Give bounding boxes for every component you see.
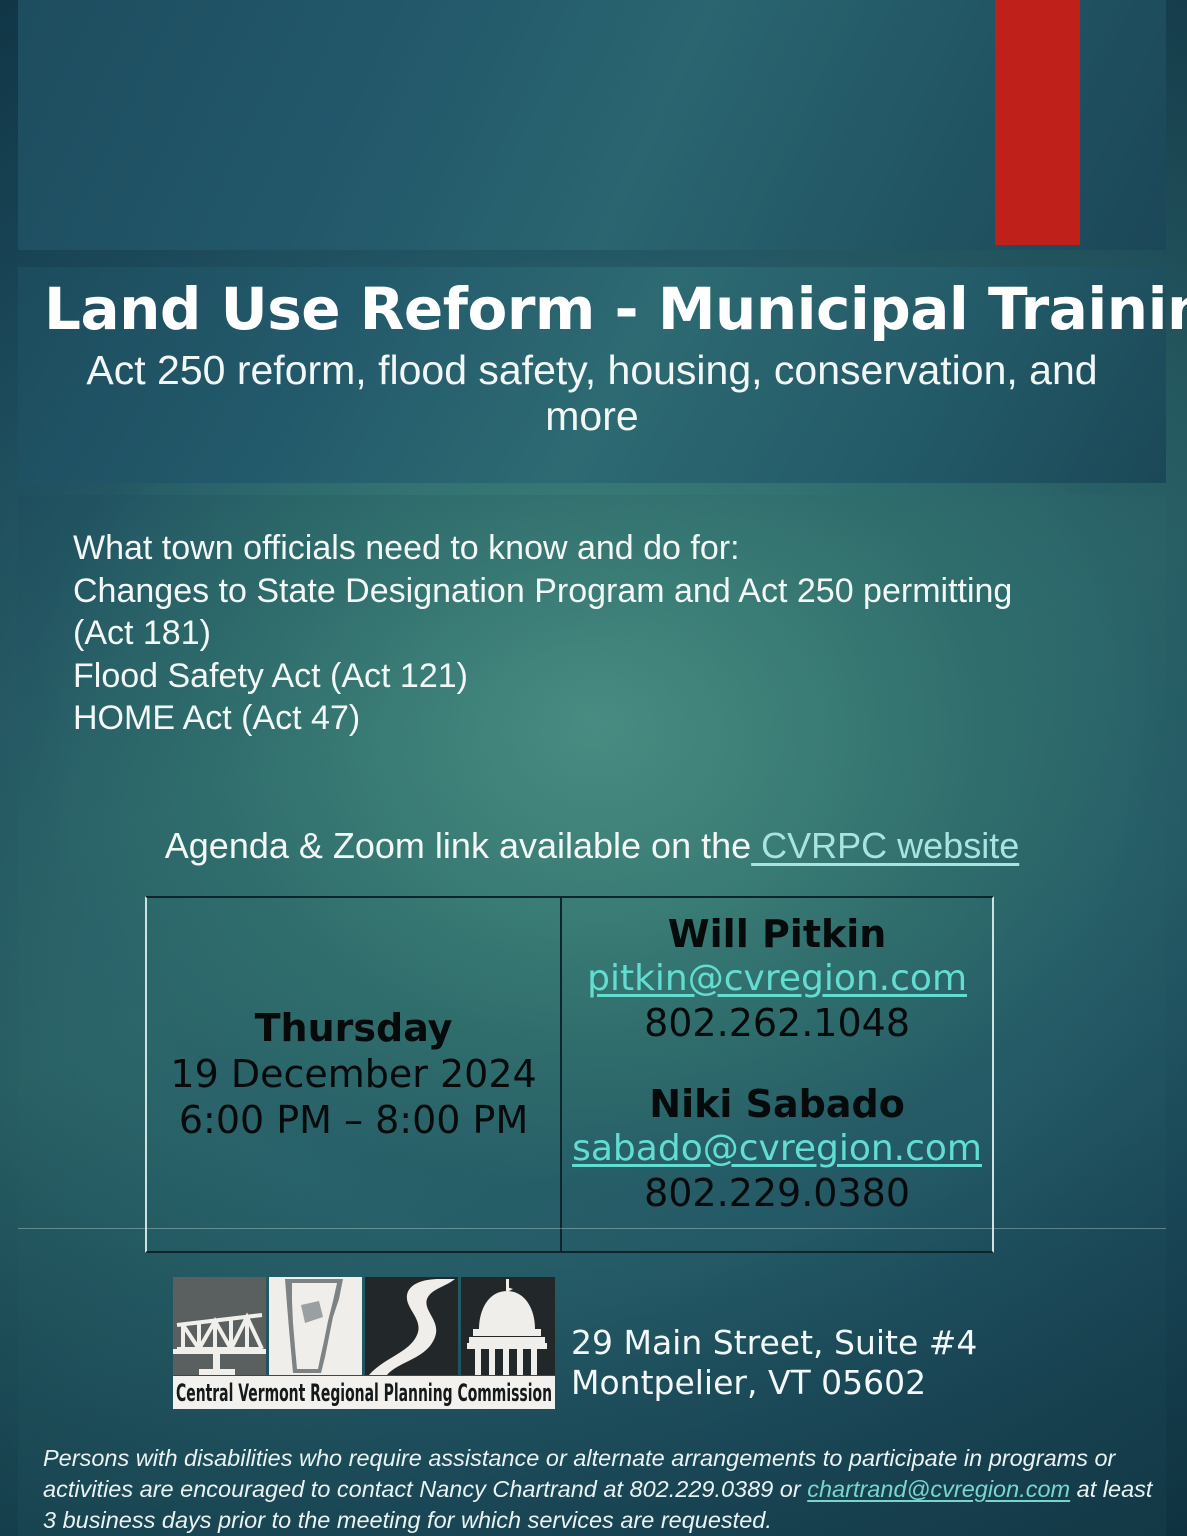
event-time: 6:00 PM – 8:00 PM	[179, 1097, 528, 1143]
contact-phone: 802.262.1048	[644, 1000, 910, 1046]
table-cell-date: Thursday 19 December 2024 6:00 PM – 8:00…	[147, 898, 562, 1251]
intro-line: Flood Safety Act (Act 121)	[73, 655, 1133, 698]
page-subtitle: Act 250 reform, flood safety, housing, c…	[44, 348, 1140, 440]
contact-name: Will Pitkin	[668, 912, 887, 957]
intro-line: (Act 181)	[73, 612, 1133, 655]
contact-phone: 802.229.0380	[644, 1170, 910, 1216]
body-band: What town officials need to know and do …	[18, 495, 1166, 1536]
cvrpc-logo: Central Vermont Regional Planning Commis…	[173, 1277, 555, 1409]
agenda-line: Agenda & Zoom link available on the CVRP…	[18, 825, 1166, 867]
event-date: 19 December 2024	[170, 1051, 536, 1097]
contact-email-link[interactable]: pitkin@cvregion.com	[587, 957, 967, 1000]
horizontal-divider	[18, 1228, 1166, 1229]
flyer-page: Land Use Reform - Municipal Training Act…	[0, 0, 1187, 1536]
page-title: Land Use Reform - Municipal Training	[44, 279, 1140, 340]
organization-address: 29 Main Street, Suite #4 Montpelier, VT …	[571, 1323, 977, 1410]
agenda-prefix-text: Agenda & Zoom link available on the	[165, 825, 751, 866]
table-cell-contacts: Will Pitkin pitkin@cvregion.com 802.262.…	[562, 898, 992, 1251]
intro-line: Changes to State Designation Program and…	[73, 570, 1133, 613]
cvrpc-website-link[interactable]: CVRPC website	[751, 825, 1019, 866]
top-decorative-band	[18, 0, 1166, 250]
intro-line: HOME Act (Act 47)	[73, 697, 1133, 740]
logo-caption: Central Vermont Regional Planning Commis…	[176, 1379, 552, 1407]
title-band: Land Use Reform - Municipal Training Act…	[18, 267, 1166, 483]
red-accent-bar	[995, 0, 1080, 245]
intro-line: What town officials need to know and do …	[73, 527, 1133, 570]
contact-name: Niki Sabado	[649, 1082, 905, 1127]
contact-email-link[interactable]: sabado@cvregion.com	[572, 1127, 982, 1170]
intro-text-block: What town officials need to know and do …	[73, 527, 1133, 740]
event-info-table: Thursday 19 December 2024 6:00 PM – 8:00…	[145, 896, 994, 1253]
organization-identity-row: Central Vermont Regional Planning Commis…	[173, 1277, 977, 1409]
accessibility-notice: Persons with disabilities who require as…	[43, 1443, 1153, 1536]
event-weekday: Thursday	[255, 1006, 453, 1051]
chartrand-email-link[interactable]: chartrand@cvregion.com	[807, 1476, 1070, 1502]
